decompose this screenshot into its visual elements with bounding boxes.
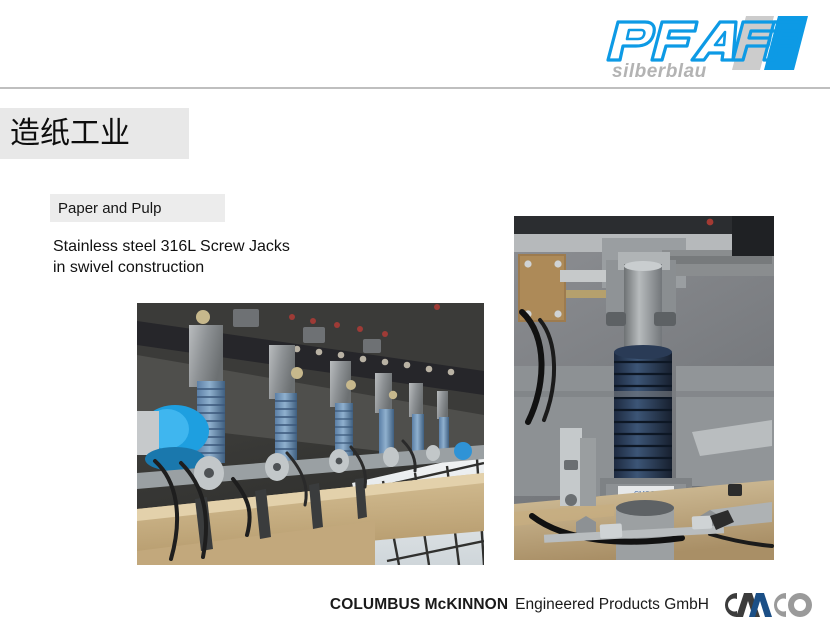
svg-text:silberblau: silberblau [612, 61, 707, 80]
pfaff-silberblau-logo: silberblau [596, 12, 814, 80]
section-subhead-label: Paper and Pulp [50, 200, 161, 217]
footer-brand-name: COLUMBUS McKINNON [330, 596, 508, 614]
description-line-2: in swivel construction [53, 257, 433, 278]
header-divider [0, 87, 830, 89]
page-footer: COLUMBUS McKINNON Engineered Products Gm… [0, 586, 830, 624]
product-description: Stainless steel 316L Screw Jacks in swiv… [53, 236, 433, 278]
cmco-logo [716, 589, 814, 621]
description-line-1: Stainless steel 316L Screw Jacks [53, 236, 433, 257]
page-title: 造纸工业 [0, 119, 130, 149]
screw-jack-row-photo [137, 303, 484, 565]
footer-company-description: Engineered Products GmbH [515, 596, 709, 614]
screw-jack-detail-photo: CMCO PFAFF-silberblau [514, 216, 774, 560]
section-subhead-chip: Paper and Pulp [50, 194, 225, 222]
page-header: silberblau [0, 0, 830, 89]
page-title-band: 造纸工业 [0, 108, 189, 159]
